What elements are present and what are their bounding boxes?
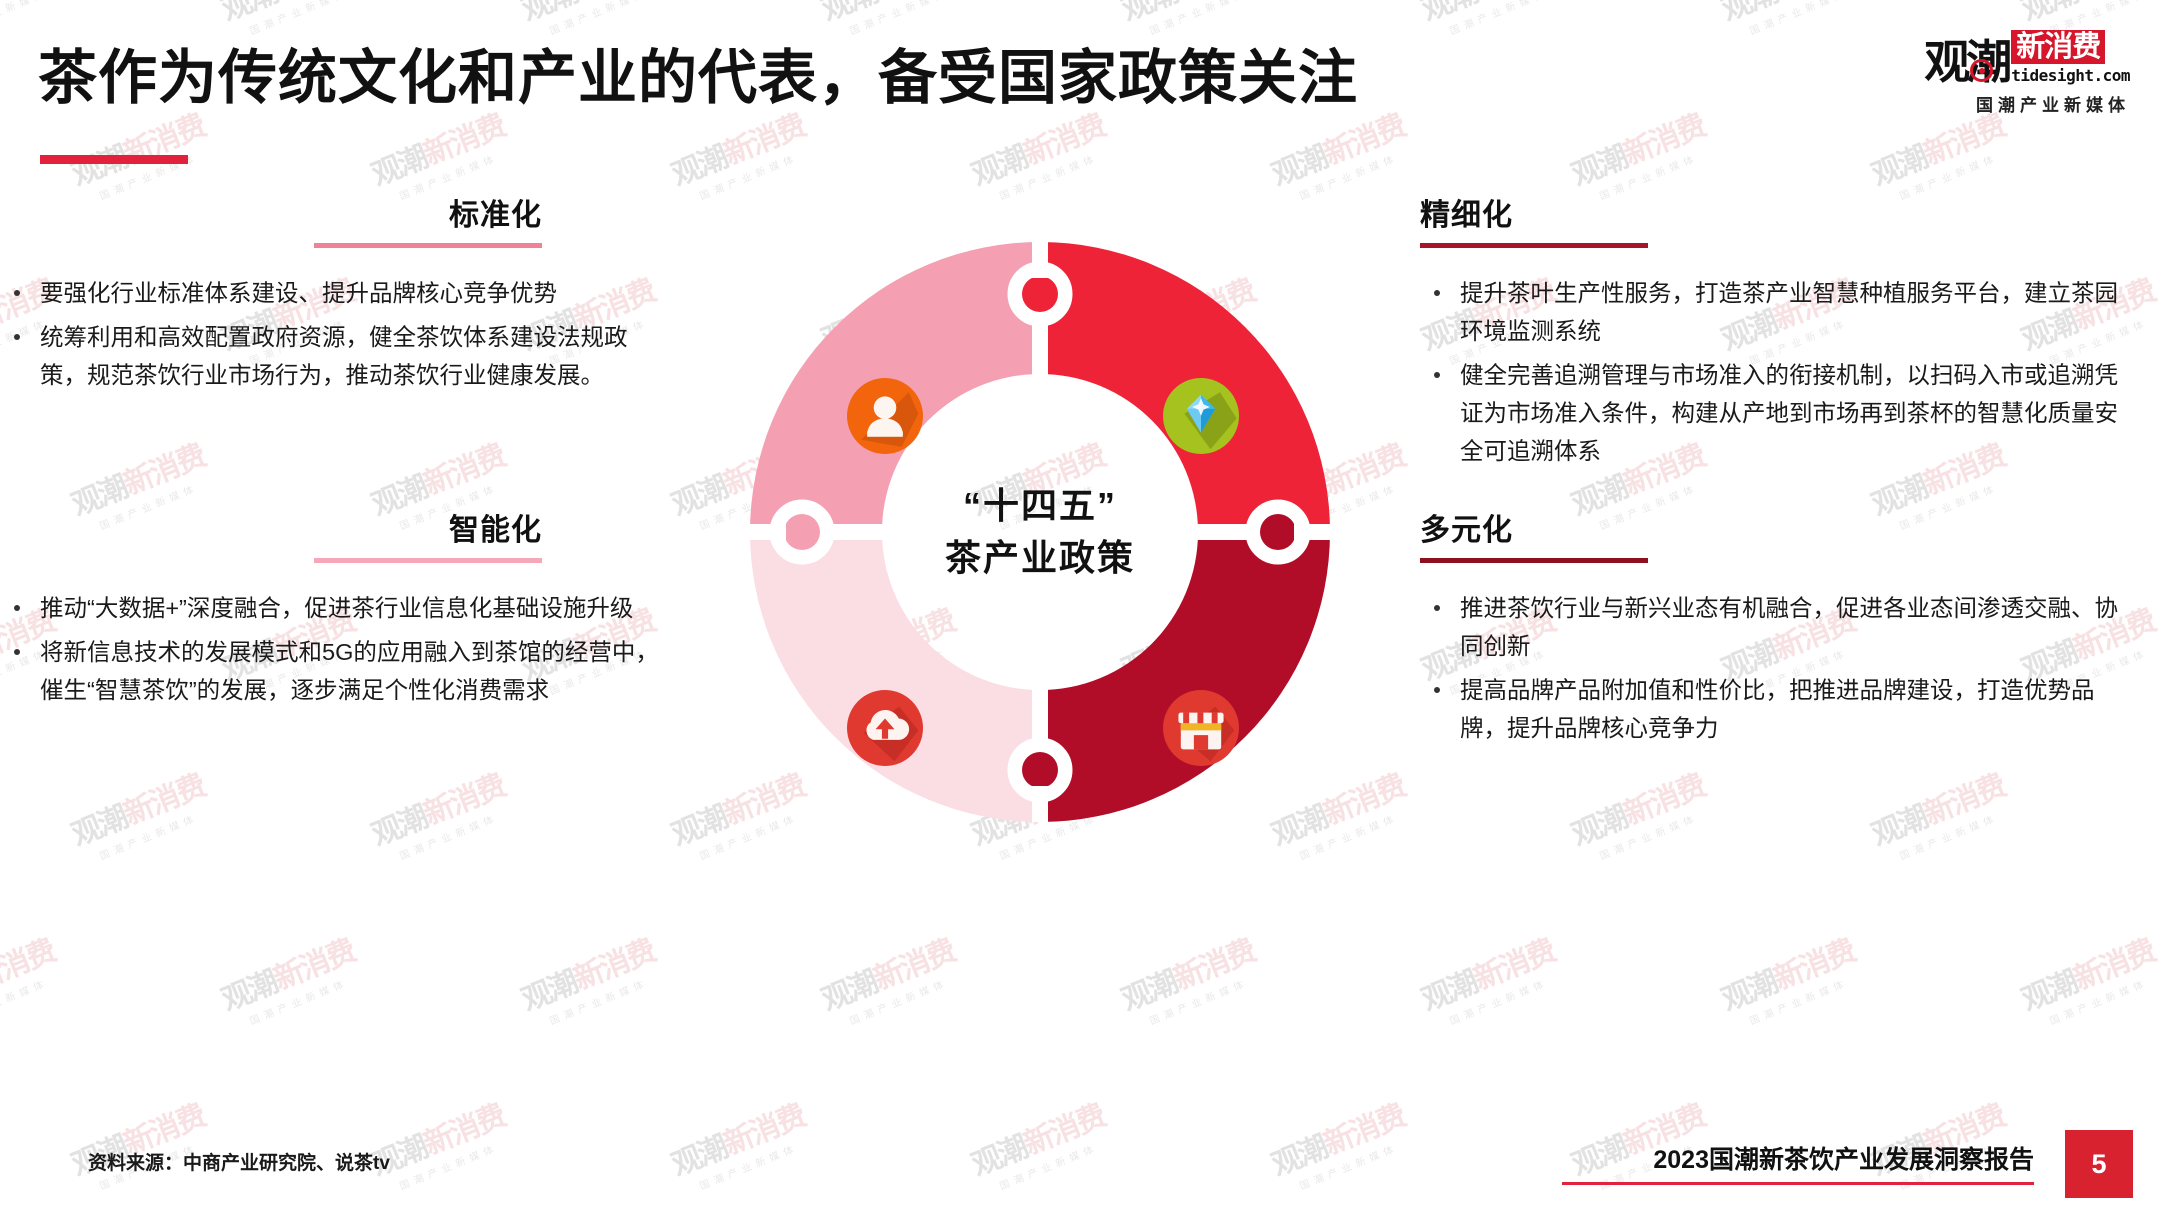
logo-right-stack: 新消费 tidesight.com xyxy=(2011,30,2130,85)
report-title: 2023国潮新茶饮产业发展洞察报告 xyxy=(1562,1140,2034,1176)
report-footer: 2023国潮新茶饮产业发展洞察报告 xyxy=(1562,1140,2034,1185)
puzzle-knob-bottom-fill xyxy=(1022,752,1058,788)
watermark-tile: 观潮新消费国潮产业新媒体 xyxy=(1714,0,1866,44)
watermark-tile: 观潮新消费国潮产业新媒体 xyxy=(64,761,216,869)
gem-icon xyxy=(1163,378,1239,454)
puzzle-knob-bottom-gap xyxy=(1032,786,1048,832)
source-note: 资料来源：中商产业研究院、说茶tv xyxy=(88,1148,390,1175)
watermark-tile: 观潮新消费国潮产业新媒体 xyxy=(1864,761,2016,869)
logo-top-row: 观潮 新消费 tidesight.com xyxy=(1924,30,2130,85)
watermark-tile: 观潮新消费国潮产业新媒体 xyxy=(2014,926,2160,1034)
list-item: 推进茶饮行业与新兴业态有机融合，促进各业态间渗透交融、协同创新 xyxy=(1420,589,2120,665)
block-diversification-rule xyxy=(1420,558,1648,563)
list-item: 要强化行业标准体系建设、提升品牌核心竞争优势 xyxy=(0,274,660,312)
logo-tagline: 国潮产业新媒体 xyxy=(1924,91,2130,116)
puzzle-knob-left-gap xyxy=(740,524,786,540)
watermark-tile: 观潮新消费国潮产业新媒体 xyxy=(1564,761,1716,869)
puzzle-knob-right-fill xyxy=(1260,514,1296,550)
watermark-tile: 观潮新消费国潮产业新媒体 xyxy=(64,1091,216,1199)
block-refinement-rule xyxy=(1420,243,1648,248)
watermark-tile: 观潮新消费国潮产业新媒体 xyxy=(214,926,366,1034)
puzzle-knob-top-gap xyxy=(1032,232,1048,278)
report-rule xyxy=(1562,1182,2034,1185)
list-item: 健全完善追溯管理与市场准入的衔接机制，以扫码入市或追溯凭证为市场准入条件，构建从… xyxy=(1420,356,2120,470)
watermark-tile: 观潮新消费国潮产业新媒体 xyxy=(514,926,666,1034)
list-item: 统筹利用和高效配置政府资源，健全茶饮体系建设法规政策，规范茶饮行业市场行为，推动… xyxy=(0,318,660,394)
cloud-upload-icon xyxy=(847,690,923,766)
watermark-tile: 观潮新消费国潮产业新媒体 xyxy=(1264,1091,1416,1199)
segment-intelligence xyxy=(740,532,1040,832)
list-item: 提高品牌产品附加值和性价比，把推进品牌建设，打造优势品牌，提升品牌核心竞争力 xyxy=(1420,671,2120,747)
shop-icon xyxy=(1163,690,1239,766)
segment-diversification xyxy=(1040,532,1340,832)
title-accent-rule xyxy=(40,155,188,164)
person-icon-svg xyxy=(847,378,923,454)
block-diversification: 多元化 推进茶饮行业与新兴业态有机融合，促进各业态间渗透交融、协同创新 提高品牌… xyxy=(1420,505,2120,753)
page-number: 5 xyxy=(2091,1149,2106,1180)
list-item: 提升茶叶生产性服务，打造茶产业智慧种植服务平台，建立茶园环境监测系统 xyxy=(1420,274,2120,350)
logo-url: tidesight.com xyxy=(2011,66,2130,85)
logo-brand-cn: 观潮 xyxy=(1924,41,2008,85)
puzzle-donut-svg xyxy=(740,232,1340,832)
block-standardization-heading: 标准化 xyxy=(0,190,660,234)
block-refinement-list: 提升茶叶生产性服务，打造茶产业智慧种植服务平台，建立茶园环境监测系统 健全完善追… xyxy=(1420,274,2120,470)
watermark-tile: 观潮新消费国潮产业新媒体 xyxy=(0,926,66,1034)
person-icon xyxy=(847,378,923,454)
puzzle-donut-diagram: “十四五” 茶产业政策 xyxy=(740,232,1340,832)
watermark-tile: 观潮新消费国潮产业新媒体 xyxy=(664,1091,816,1199)
logo-badge: 新消费 xyxy=(2011,30,2105,64)
list-item: 推动“大数据+”深度融合，促进茶行业信息化基础设施升级 xyxy=(0,589,660,627)
block-diversification-heading: 多元化 xyxy=(1420,505,2120,549)
watermark-tile: 观潮新消费国潮产业新媒体 xyxy=(364,1091,516,1199)
watermark-tile: 观潮新消费国潮产业新媒体 xyxy=(1714,926,1866,1034)
slide-canvas: 观潮新消费国潮产业新媒体观潮新消费国潮产业新媒体观潮新消费国潮产业新媒体观潮新消… xyxy=(0,0,2160,1215)
watermark-tile: 观潮新消费国潮产业新媒体 xyxy=(964,101,1116,209)
watermark-tile: 观潮新消费国潮产业新媒体 xyxy=(1264,101,1416,209)
watermark-tile: 观潮新消费国潮产业新媒体 xyxy=(814,926,966,1034)
block-intelligence: 智能化 推动“大数据+”深度融合，促进茶行业信息化基础设施升级 将新信息技术的发… xyxy=(0,505,660,715)
block-standardization: 标准化 要强化行业标准体系建设、提升品牌核心竞争优势 统筹利用和高效配置政府资源… xyxy=(0,190,660,400)
puzzle-knob-right-gap xyxy=(1294,524,1340,540)
watermark-tile: 观潮新消费国潮产业新媒体 xyxy=(364,761,516,869)
watermark-tile: 观潮新消费国潮产业新媒体 xyxy=(1414,926,1566,1034)
puzzle-knob-left-fill xyxy=(784,514,820,550)
block-intelligence-list: 推动“大数据+”深度融合，促进茶行业信息化基础设施升级 将新信息技术的发展模式和… xyxy=(0,589,660,709)
block-diversification-list: 推进茶饮行业与新兴业态有机融合，促进各业态间渗透交融、协同创新 提高品牌产品附加… xyxy=(1420,589,2120,747)
watermark-tile: 观潮新消费国潮产业新媒体 xyxy=(664,101,816,209)
watermark-tile: 观潮新消费国潮产业新媒体 xyxy=(964,1091,1116,1199)
brand-logo: 观潮 新消费 tidesight.com 国潮产业新媒体 xyxy=(1924,30,2130,116)
block-refinement-heading: 精细化 xyxy=(1420,190,2120,234)
block-intelligence-heading: 智能化 xyxy=(0,505,660,549)
block-refinement: 精细化 提升茶叶生产性服务，打造茶产业智慧种植服务平台，建立茶园环境监测系统 健… xyxy=(1420,190,2120,476)
watermark-tile: 观潮新消费国潮产业新媒体 xyxy=(1414,0,1566,44)
gem-icon-svg xyxy=(1163,378,1239,454)
page-number-badge: 5 xyxy=(2065,1130,2133,1198)
cloud-upload-icon-svg xyxy=(847,690,923,766)
logo-brand-cn-text: 观潮 xyxy=(1924,35,2008,89)
block-intelligence-rule xyxy=(314,558,542,563)
puzzle-knob-top-fill xyxy=(1022,276,1058,312)
page-title: 茶作为传统文化和产业的代表，备受国家政策关注 xyxy=(38,30,1358,115)
block-standardization-list: 要强化行业标准体系建设、提升品牌核心竞争优势 统筹利用和高效配置政府资源，健全茶… xyxy=(0,274,660,394)
watermark-tile: 观潮新消费国潮产业新媒体 xyxy=(1114,926,1266,1034)
list-item: 将新信息技术的发展模式和5G的应用融入到茶馆的经营中，催生“智慧茶饮”的发展，逐… xyxy=(0,633,660,709)
shop-icon-svg xyxy=(1163,690,1239,766)
block-standardization-rule xyxy=(314,243,542,248)
